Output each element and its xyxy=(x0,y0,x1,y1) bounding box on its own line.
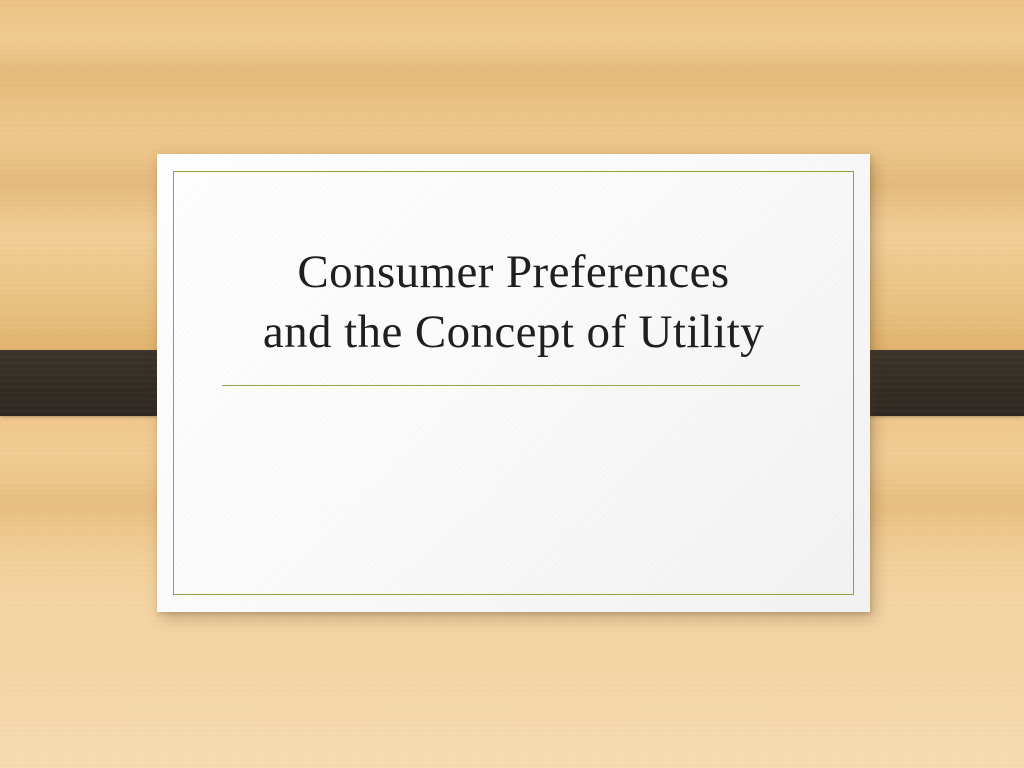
slide-card: Consumer Preferences and the Concept of … xyxy=(157,154,870,612)
card-inner-border xyxy=(173,171,854,595)
slide-title: Consumer Preferences and the Concept of … xyxy=(157,242,870,362)
title-underline-rule xyxy=(222,385,800,386)
slide-title-line-2: and the Concept of Utility xyxy=(157,302,870,362)
title-slide: Consumer Preferences and the Concept of … xyxy=(0,0,1024,768)
slide-title-line-1: Consumer Preferences xyxy=(157,242,870,302)
